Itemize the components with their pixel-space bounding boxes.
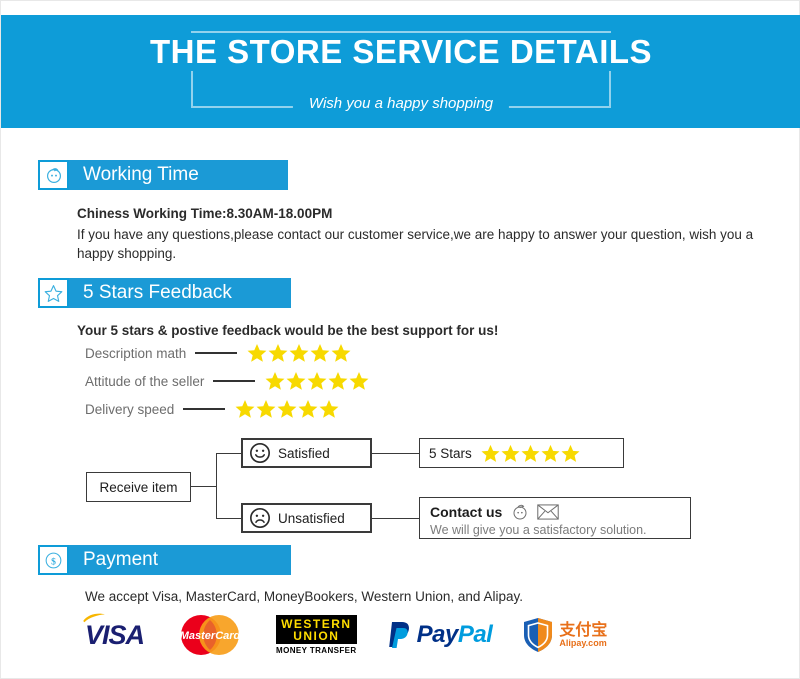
flow-label-unsatisfied: Unsatisfied [278,511,345,526]
paypal-text-pal: Pal [458,621,493,648]
rating-connector [213,380,255,382]
payment-accept-text: We accept Visa, MasterCard, MoneyBookers… [85,587,775,606]
rating-stars [234,398,339,420]
header-banner: THE STORE SERVICE DETAILS Wish you a hap… [1,15,800,128]
section-title-feedback: 5 Stars Feedback [83,278,232,308]
paypal-logo: PayPal [387,620,493,650]
section-bar-working-time: Working Time [69,160,288,190]
flow-box-five-stars: 5 Stars [419,438,624,468]
store-service-details-page: THE STORE SERVICE DETAILS Wish you a hap… [0,0,800,679]
section-bar-payment: Payment [69,545,291,575]
smiley-face-icon [249,442,271,464]
chat-face-icon [38,160,69,190]
paypal-monogram-icon [387,620,413,650]
dollar-circle-icon: $ [38,545,69,575]
flow-label-five-stars: 5 Stars [429,446,472,461]
frowny-face-icon [249,507,271,529]
flow-box-unsatisfied: Unsatisfied [241,503,372,533]
rating-row-attitude: Attitude of the seller [85,370,369,392]
flow-label-satisfied: Satisfied [278,446,330,461]
contact-us-title: Contact us [430,504,502,520]
rating-row-description: Description math [85,342,351,364]
alipay-domain-text: Alipay.com [559,638,607,649]
rating-connector [195,352,237,354]
envelope-icon [537,504,559,520]
visa-text: VISA [85,620,144,650]
flow-connector-bottom [216,518,241,519]
banner-title: THE STORE SERVICE DETAILS [136,33,666,71]
rating-stars [246,342,351,364]
rating-label: Attitude of the seller [85,374,204,389]
flow-connector-top [216,453,241,454]
visa-swoosh-icon [82,612,106,624]
working-time-note: If you have any questions,please contact… [77,225,767,263]
flow-box-contact-us: Contact us We will give you a satisfacto… [419,497,691,539]
western-union-box: WESTERN UNION [276,615,357,644]
flow-label-receive-item: Receive item [99,480,177,495]
star-outline-icon [38,278,69,308]
western-union-line2: UNION [281,630,352,642]
paypal-text: PayPal [417,622,493,648]
alipay-shield-icon [522,617,554,653]
western-union-subtext: MONEY TRANSFER [276,646,357,655]
rating-connector [183,408,225,410]
visa-logo: VISA [85,621,144,649]
svg-text:MasterCard: MasterCard [180,630,241,642]
rating-label: Delivery speed [85,402,174,417]
mastercard-logo: MasterCard [174,613,246,657]
chat-face-icon [510,502,530,522]
service-flow-diagram: Receive item Satisfied Unsatis [86,441,716,541]
payment-logos: VISA MasterCard WESTERN UNION MONEY TRAN… [85,613,607,657]
section-header-working-time: Working Time [38,160,288,190]
alipay-logo: 支付宝 Alipay.com [522,617,607,653]
section-header-feedback: 5 Stars Feedback [38,278,291,308]
alipay-chinese-text: 支付宝 [559,621,607,638]
mastercard-circles-icon: MasterCard [174,613,246,657]
contact-us-subtext: We will give you a satisfactory solution… [430,523,690,537]
rating-row-delivery: Delivery speed [85,398,339,420]
section-bar-feedback: 5 Stars Feedback [69,278,291,308]
rating-label: Description math [85,346,186,361]
working-time-line: Chiness Working Time:8.30AM-18.00PM [77,204,767,223]
flow-box-receive-item: Receive item [86,472,191,502]
flow-five-stars-rating [480,443,580,464]
section-header-payment: $ Payment [38,545,291,575]
section-title-payment: Payment [83,545,158,575]
svg-text:$: $ [51,556,56,567]
feedback-headline: Your 5 stars & postive feedback would be… [77,321,767,340]
rating-stars [264,370,369,392]
flow-connector-satisfied-out [371,453,419,454]
flow-box-satisfied: Satisfied [241,438,372,468]
flow-connector-spine [216,453,217,519]
western-union-logo: WESTERN UNION MONEY TRANSFER [276,615,357,655]
banner-subtitle: Wish you a happy shopping [293,94,509,114]
section-title-working-time: Working Time [83,160,199,190]
paypal-text-pay: Pay [417,621,458,648]
flow-connector-stub [191,486,216,487]
flow-connector-unsatisfied-out [371,518,419,519]
